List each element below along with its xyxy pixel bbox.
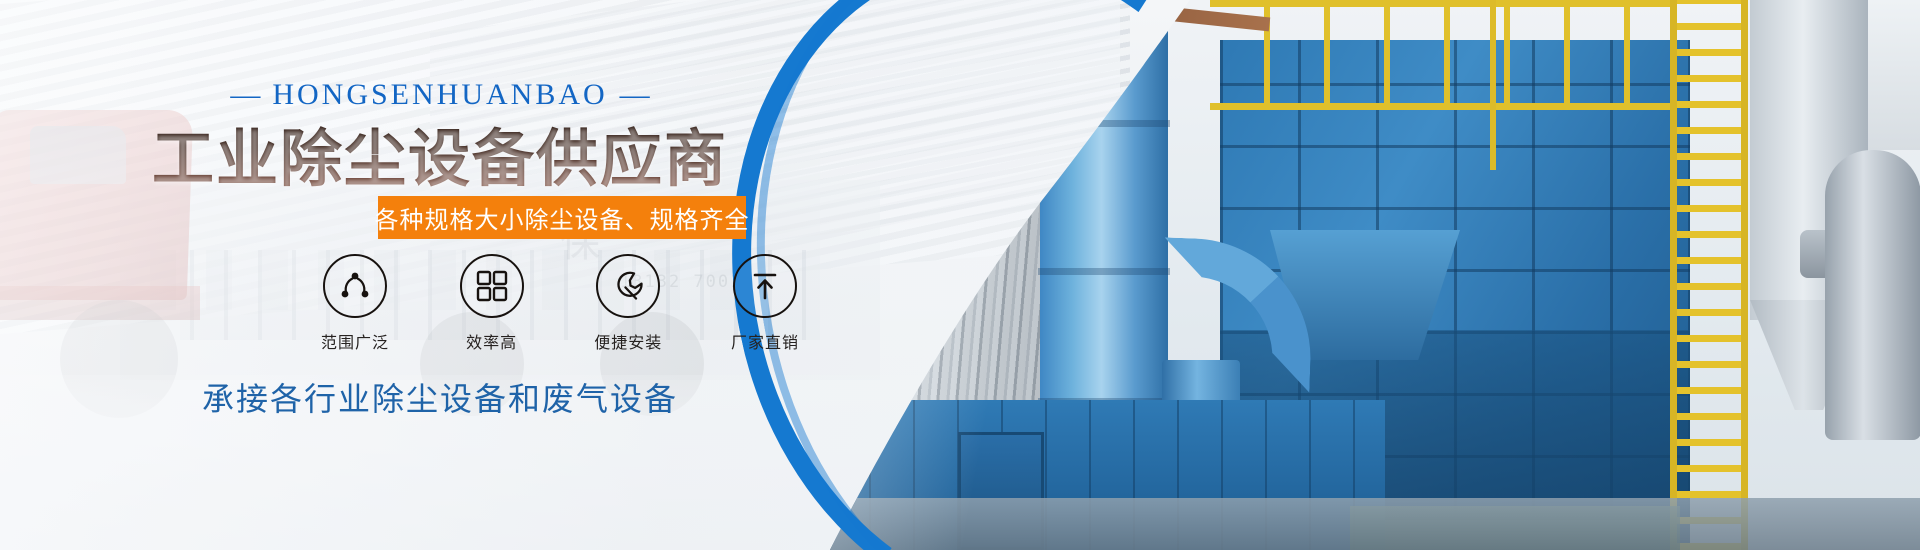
hero-banner: 保 13132 7001 bbox=[0, 0, 1920, 550]
eyebrow-text: HONGSENHUANBAO bbox=[272, 78, 607, 111]
feature-list: 范围广泛 效率高 bbox=[300, 254, 820, 353]
feature-item-efficiency[interactable]: 效率高 bbox=[437, 254, 547, 353]
feature-item-range[interactable]: 范围广泛 bbox=[300, 254, 410, 353]
eyebrow-dash-right: — bbox=[608, 78, 662, 111]
grid-squares-icon bbox=[460, 254, 524, 318]
banner-content: —HONGSENHUANBAO— 工业除尘设备供应商 各种规格大小除尘设备、规格… bbox=[0, 0, 880, 550]
banner-tagline: 承接各行业除尘设备和废气设备 bbox=[0, 374, 880, 420]
wrench-icon bbox=[596, 254, 660, 318]
eyebrow-dash-left: — bbox=[218, 78, 272, 111]
arrow-up-icon bbox=[733, 254, 797, 318]
feature-label: 范围广泛 bbox=[300, 329, 410, 353]
brand-eyebrow: —HONGSENHUANBAO— bbox=[0, 78, 880, 112]
subtitle-orange-bar: 各种规格大小除尘设备、规格齐全 bbox=[378, 196, 746, 239]
page-title: 工业除尘设备供应商 bbox=[0, 108, 880, 198]
subtitle-text: 各种规格大小除尘设备、规格齐全 bbox=[375, 200, 750, 235]
feature-label: 便捷安装 bbox=[573, 329, 683, 353]
feature-label: 效率高 bbox=[437, 329, 547, 353]
network-nodes-icon bbox=[323, 254, 387, 318]
feature-label: 厂家直销 bbox=[710, 329, 820, 353]
feature-item-installation[interactable]: 便捷安装 bbox=[573, 254, 683, 353]
feature-item-factory-direct[interactable]: 厂家直销 bbox=[710, 254, 820, 353]
